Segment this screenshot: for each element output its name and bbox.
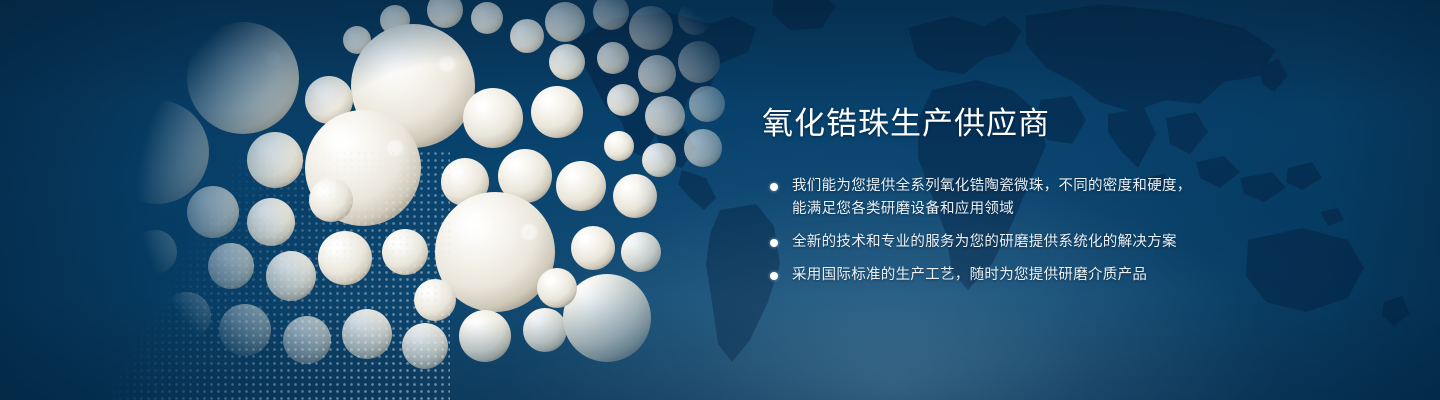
page-title: 氧化锆珠生产供应商 [762,106,1362,143]
bullet-text-line-1: 我们能为您提供全系列氧化锆陶瓷微珠，不同的密度和硬度， [792,175,1362,198]
feature-bullet-list: 我们能为您提供全系列氧化锆陶瓷微珠，不同的密度和硬度， 能满足您各类研磨设备和应… [762,175,1362,287]
banner-text-block: 氧化锆珠生产供应商 我们能为您提供全系列氧化锆陶瓷微珠，不同的密度和硬度， 能满… [762,106,1362,287]
list-item: 采用国际标准的生产工艺，随时为您提供研磨介质产品 [762,264,1362,287]
bullet-text-line-1: 采用国际标准的生产工艺，随时为您提供研磨介质产品 [792,264,1362,287]
zirconia-beads-photo [95,0,735,400]
bullet-text-line-2: 能满足您各类研磨设备和应用领域 [792,198,1362,221]
bullet-dot-icon [770,272,778,280]
bullet-text-line-1: 全新的技术和专业的服务为您的研磨提供系统化的解决方案 [792,231,1362,254]
list-item: 我们能为您提供全系列氧化锆陶瓷微珠，不同的密度和硬度， 能满足您各类研磨设备和应… [762,175,1362,221]
bullet-dot-icon [770,239,778,247]
hero-banner: 氧化锆珠生产供应商 我们能为您提供全系列氧化锆陶瓷微珠，不同的密度和硬度， 能满… [0,0,1440,400]
list-item: 全新的技术和专业的服务为您的研磨提供系统化的解决方案 [762,231,1362,254]
bullet-dot-icon [770,183,778,191]
